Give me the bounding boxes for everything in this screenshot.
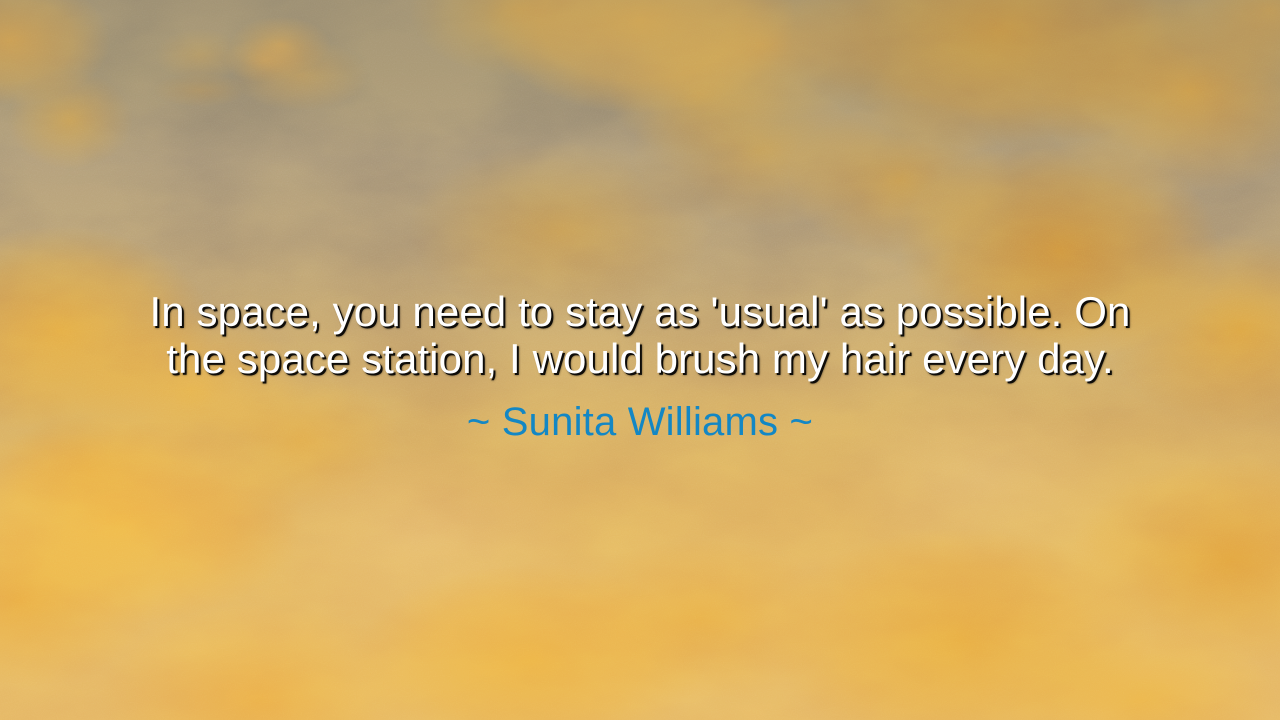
quote-line-2: space station, I would brush my hair eve… (237, 335, 1114, 382)
quote-block: In space, you need to stay as 'usual' as… (130, 288, 1150, 444)
wallpaper-canvas: In space, you need to stay as 'usual' as… (0, 0, 1280, 720)
quote-author: ~ Sunita Williams ~ (130, 400, 1150, 444)
quote-text: In space, you need to stay as 'usual' as… (130, 288, 1150, 382)
